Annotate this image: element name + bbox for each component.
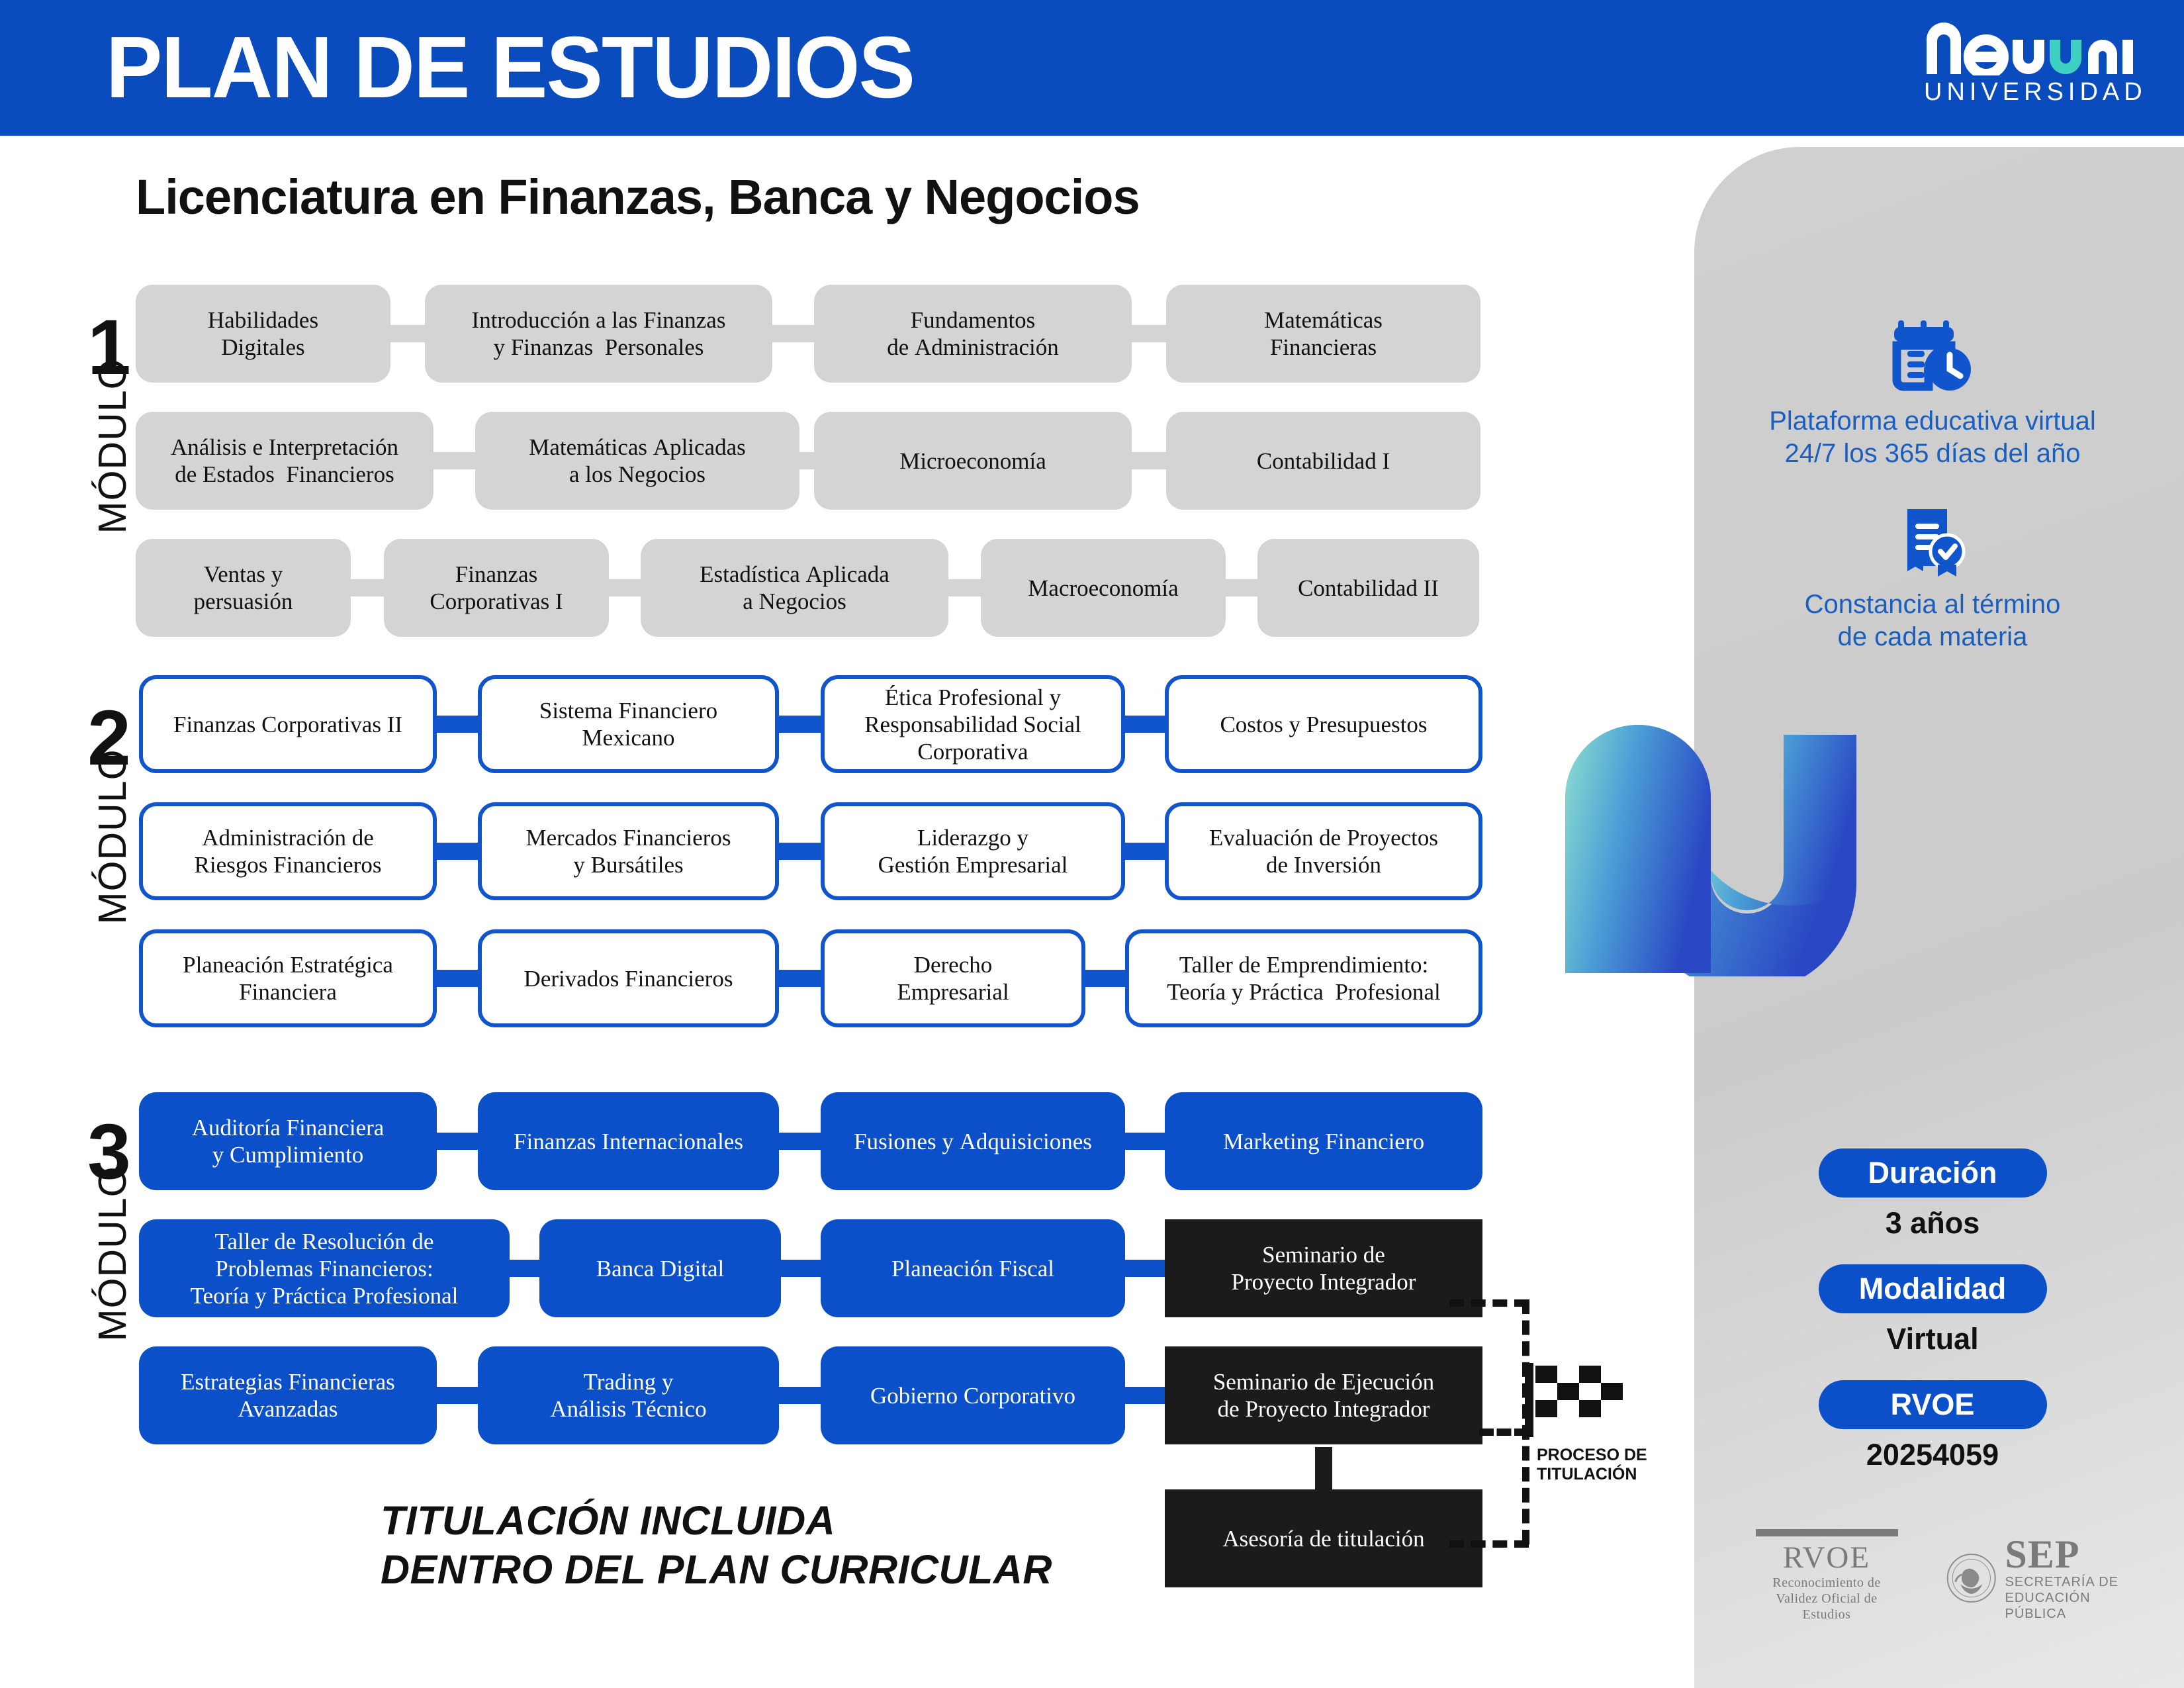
- course-box[interactable]: Planeación Fiscal: [821, 1219, 1125, 1317]
- certificate-badge-icon: [1895, 505, 1970, 579]
- course-box[interactable]: Análisis e Interpretaciónde Estados Fina…: [136, 412, 433, 510]
- feature-constancia-line2: de cada materia: [1734, 621, 2131, 653]
- connector: [1124, 1387, 1166, 1404]
- course-box[interactable]: Finanzas Corporativas II: [139, 675, 437, 773]
- course-box[interactable]: Administración deRiesgos Financieros: [139, 802, 437, 900]
- course-box[interactable]: Estrategias FinancierasAvanzadas: [139, 1346, 437, 1444]
- course-label: Finanzas Internacionales: [514, 1128, 743, 1155]
- connector: [778, 1133, 822, 1150]
- mexican-eagle-seal-icon: [1946, 1550, 1997, 1606]
- titulacion-note: TITULACIÓN INCLUIDA DENTRO DEL PLAN CURR…: [381, 1496, 1052, 1594]
- dashed-connector-bottom: [1449, 1540, 1529, 1548]
- course-box[interactable]: Introducción a las Finanzasy Finanzas Pe…: [425, 285, 772, 383]
- course-label: Auditoría Financieray Cumplimiento: [192, 1114, 385, 1168]
- course-label: Microeconomía: [899, 447, 1046, 475]
- flag-caption-line1: PROCESO DE: [1537, 1446, 1674, 1465]
- module-word-3: MÓDULO: [90, 1121, 135, 1386]
- course-label: Mercados Financierosy Bursátiles: [525, 824, 731, 878]
- course-box[interactable]: Derivados Financieros: [478, 929, 779, 1027]
- course-box[interactable]: HabilidadesDigitales: [136, 285, 390, 383]
- logo-subtitle: UNIVERSIDAD: [1924, 78, 2134, 107]
- course-box[interactable]: Ética Profesional yResponsabilidad Socia…: [821, 675, 1125, 773]
- titulacion-note-line1: TITULACIÓN INCLUIDA: [381, 1496, 1052, 1545]
- connector: [435, 716, 479, 733]
- course-label: Trading yAnálisis Técnico: [550, 1368, 706, 1423]
- course-box[interactable]: MatemáticasFinancieras: [1166, 285, 1480, 383]
- course-box[interactable]: Mercados Financierosy Bursátiles: [478, 802, 779, 900]
- course-box[interactable]: Estadística Aplicadaa Negocios: [641, 539, 948, 637]
- sep-logo-sub2: EDUCACIÓN PÚBLICA: [2005, 1590, 2145, 1622]
- module-word-2: MÓDULO: [90, 704, 135, 969]
- newni-wordmark-icon: [1923, 15, 2134, 75]
- connector: [778, 843, 822, 860]
- rvoe-value: 20254059: [1734, 1438, 2131, 1472]
- newni-watermark-icon: [1539, 692, 1916, 976]
- asesoria-titulacion-label: Asesoría de titulación: [1222, 1525, 1424, 1552]
- course-box[interactable]: Taller de Resolución deProblemas Financi…: [139, 1219, 510, 1317]
- dashed-connector-middle: [1479, 1429, 1529, 1436]
- page-header: PLAN DE ESTUDIOS UNIVERSIDAD: [0, 0, 2184, 136]
- course-box[interactable]: FinanzasCorporativas I: [384, 539, 609, 637]
- course-box[interactable]: Auditoría Financieray Cumplimiento: [139, 1092, 437, 1190]
- connector: [1124, 716, 1166, 733]
- course-label: Fusiones y Adquisiciones: [854, 1128, 1092, 1155]
- course-label: Fundamentosde Administración: [887, 306, 1059, 361]
- course-box[interactable]: Fundamentosde Administración: [814, 285, 1132, 383]
- connector: [349, 579, 385, 596]
- feature-plataforma: Plataforma educativa virtual 24/7 los 36…: [1734, 311, 2131, 470]
- titulacion-note-line2: DENTRO DEL PLAN CURRICULAR: [381, 1545, 1052, 1594]
- program-title: Licenciatura en Finanzas, Banca y Negoci…: [136, 169, 1140, 225]
- course-box[interactable]: Marketing Financiero: [1165, 1092, 1482, 1190]
- course-box[interactable]: Matemáticas Aplicadasa los Negocios: [475, 412, 799, 510]
- connector: [432, 452, 477, 469]
- rvoe-group: RVOE 20254059: [1734, 1380, 2131, 1472]
- sep-logo-main: SEP: [2005, 1534, 2145, 1574]
- course-label: Derivados Financieros: [524, 965, 733, 992]
- course-label: Taller de Emprendimiento:Teoría y Prácti…: [1167, 951, 1441, 1006]
- course-box[interactable]: Ventas ypersuasión: [136, 539, 351, 637]
- checkered-flag-icon: [1522, 1360, 1641, 1440]
- course-label: Administración deRiesgos Financieros: [195, 824, 382, 878]
- connector: [435, 1387, 479, 1404]
- rvoe-logo-sub2: Validez Oficial de: [1751, 1591, 1903, 1607]
- newni-university-logo: UNIVERSIDAD: [1923, 15, 2134, 120]
- connector: [1224, 579, 1259, 596]
- sep-logo-sub1: SECRETARÍA DE: [2005, 1574, 2145, 1590]
- rvoe-logo-bar: [1756, 1529, 1898, 1536]
- course-label: Estadística Aplicadaa Negocios: [700, 561, 889, 615]
- connector-vertical: [1315, 1447, 1332, 1493]
- connector: [1130, 325, 1167, 342]
- course-label: Sistema FinancieroMexicano: [539, 697, 717, 751]
- rvoe-logo-main: RVOE: [1751, 1540, 1903, 1575]
- modalidad-pill: Modalidad: [1819, 1264, 2047, 1313]
- modalidad-value: Virtual: [1734, 1322, 2131, 1356]
- connector: [1084, 970, 1126, 987]
- course-label: Ventas ypersuasión: [194, 561, 293, 615]
- course-label: Costos y Presupuestos: [1220, 711, 1427, 738]
- course-label: MatemáticasFinancieras: [1264, 306, 1383, 361]
- course-box[interactable]: Seminario deProyecto Integrador: [1165, 1219, 1482, 1317]
- duracion-value: 3 años: [1734, 1206, 2131, 1241]
- course-box[interactable]: Liderazgo yGestión Empresarial: [821, 802, 1125, 900]
- course-box[interactable]: Taller de Emprendimiento:Teoría y Prácti…: [1125, 929, 1482, 1027]
- course-label: Planeación Fiscal: [891, 1255, 1054, 1282]
- connector: [1130, 452, 1167, 469]
- connector: [1124, 843, 1166, 860]
- course-label: Taller de Resolución deProblemas Financi…: [191, 1228, 459, 1309]
- course-label: Estrategias FinancierasAvanzadas: [181, 1368, 395, 1423]
- proceso-titulacion-badge: PROCESO DE TITULACIÓN: [1522, 1360, 1674, 1484]
- course-label: Contabilidad II: [1298, 575, 1439, 602]
- duracion-pill: Duración: [1819, 1149, 2047, 1197]
- course-label: Análisis e Interpretaciónde Estados Fina…: [171, 434, 398, 488]
- connector: [435, 970, 479, 987]
- connector: [780, 1260, 822, 1277]
- connector: [1124, 1133, 1166, 1150]
- connector: [778, 716, 822, 733]
- connector: [771, 325, 815, 342]
- rvoe-logo-sub1: Reconocimiento de: [1751, 1575, 1903, 1591]
- feature-plataforma-line1: Plataforma educativa virtual: [1734, 405, 2131, 438]
- connector: [947, 579, 982, 596]
- page-title: PLAN DE ESTUDIOS: [106, 8, 914, 127]
- course-box[interactable]: Banca Digital: [539, 1219, 781, 1317]
- feature-constancia-line1: Constancia al término: [1734, 588, 2131, 621]
- course-label: Planeación EstratégicaFinanciera: [183, 951, 393, 1006]
- connector: [1124, 1260, 1166, 1277]
- course-box[interactable]: Fusiones y Adquisiciones: [821, 1092, 1125, 1190]
- course-box[interactable]: Microeconomía: [814, 412, 1132, 510]
- course-box[interactable]: Sistema FinancieroMexicano: [478, 675, 779, 773]
- course-label: Matemáticas Aplicadasa los Negocios: [529, 434, 746, 488]
- course-label: Seminario deProyecto Integrador: [1232, 1241, 1416, 1295]
- dashed-connector-top: [1449, 1299, 1529, 1307]
- course-label: Contabilidad I: [1257, 447, 1390, 475]
- asesoria-titulacion-box[interactable]: Asesoría de titulación: [1165, 1489, 1482, 1587]
- connector: [798, 452, 815, 469]
- course-label: Liderazgo yGestión Empresarial: [878, 824, 1068, 878]
- connector: [508, 1260, 541, 1277]
- connector: [778, 970, 822, 987]
- course-box[interactable]: Contabilidad I: [1166, 412, 1480, 510]
- course-box[interactable]: Seminario de Ejecuciónde Proyecto Integr…: [1165, 1346, 1482, 1444]
- module-word-1: MÓDULO: [90, 314, 135, 579]
- course-label: FinanzasCorporativas I: [430, 561, 563, 615]
- rvoe-official-logo: RVOE Reconocimiento de Validez Oficial d…: [1751, 1529, 1903, 1622]
- course-box[interactable]: Trading yAnálisis Técnico: [478, 1346, 779, 1444]
- course-label: Finanzas Corporativas II: [173, 711, 402, 738]
- connector: [389, 325, 426, 342]
- course-label: Introducción a las Finanzasy Finanzas Pe…: [472, 306, 726, 361]
- course-label: Seminario de Ejecuciónde Proyecto Integr…: [1213, 1368, 1434, 1423]
- course-label: DerechoEmpresarial: [897, 951, 1009, 1006]
- course-box[interactable]: Planeación EstratégicaFinanciera: [139, 929, 437, 1027]
- calendar-clock-icon: [1890, 311, 1975, 396]
- sep-official-logo: SEP SECRETARÍA DE EDUCACIÓN PÚBLICA: [1946, 1534, 2144, 1622]
- course-box[interactable]: Contabilidad II: [1257, 539, 1479, 637]
- feature-plataforma-line2: 24/7 los 365 días del año: [1734, 438, 2131, 470]
- course-box[interactable]: Finanzas Internacionales: [478, 1092, 779, 1190]
- course-box[interactable]: DerechoEmpresarial: [821, 929, 1085, 1027]
- connector: [435, 1133, 479, 1150]
- course-label: Banca Digital: [596, 1255, 724, 1282]
- connector: [778, 1387, 822, 1404]
- course-box[interactable]: Gobierno Corporativo: [821, 1346, 1125, 1444]
- course-box[interactable]: Evaluación de Proyectosde Inversión: [1165, 802, 1482, 900]
- rvoe-logo-sub3: Estudios: [1751, 1607, 1903, 1622]
- modalidad-group: Modalidad Virtual: [1734, 1264, 2131, 1356]
- flag-caption-line2: TITULACIÓN: [1537, 1465, 1674, 1484]
- course-label: Evaluación de Proyectosde Inversión: [1209, 824, 1438, 878]
- course-label: Marketing Financiero: [1223, 1128, 1424, 1155]
- course-label: Gobierno Corporativo: [870, 1382, 1075, 1409]
- course-box[interactable]: Macroeconomía: [981, 539, 1226, 637]
- feature-constancia: Constancia al término de cada materia: [1734, 505, 2131, 653]
- rvoe-pill: RVOE: [1819, 1380, 2047, 1429]
- connector: [435, 843, 479, 860]
- course-label: Ética Profesional yResponsabilidad Socia…: [864, 684, 1081, 765]
- duracion-group: Duración 3 años: [1734, 1149, 2131, 1241]
- course-label: HabilidadesDigitales: [208, 306, 318, 361]
- connector: [608, 579, 642, 596]
- course-label: Macroeconomía: [1028, 575, 1178, 602]
- course-box[interactable]: Costos y Presupuestos: [1165, 675, 1482, 773]
